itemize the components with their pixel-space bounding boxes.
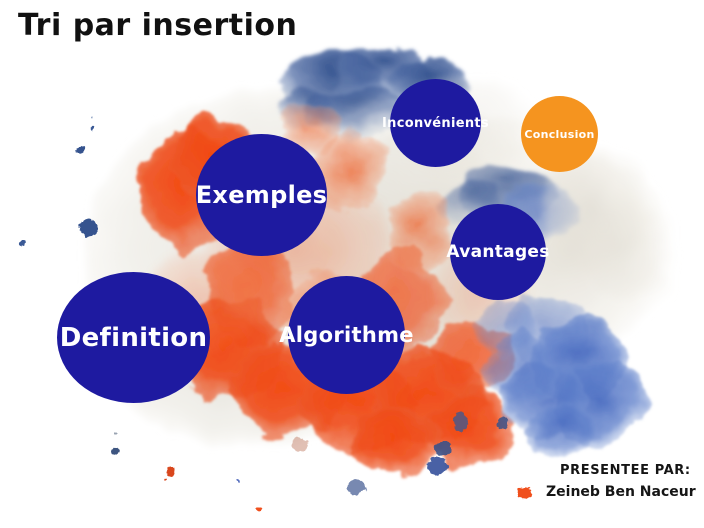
- bubble-avantages-label: Avantages: [446, 244, 549, 261]
- paint-dark-blots: [292, 412, 509, 494]
- page-title: Tri par insertion: [18, 8, 297, 43]
- orange-splat-icon: [516, 484, 534, 502]
- bubble-conclusion-label: Conclusion: [524, 129, 594, 140]
- blue-dot-upper: [89, 125, 95, 130]
- bubble-definition-label: Definition: [60, 325, 208, 351]
- bubble-inconvenients-label: Inconvénients: [382, 117, 489, 130]
- credit-label: PRESENTEE PAR:: [560, 463, 696, 478]
- orange-dot-a: [166, 468, 175, 476]
- paint-cornflower-bottom-right: [475, 292, 650, 458]
- credit-block: PRESENTEE PAR: Zeineb Ben Naceur: [546, 463, 696, 500]
- blue-dot-lower: [111, 447, 119, 454]
- watercolor-background: [0, 0, 704, 528]
- grey-dot-lower: [114, 433, 116, 435]
- orange-dot-c: [258, 507, 263, 512]
- blue-blob-left: [79, 219, 98, 236]
- bubble-exemples-label: Exemples: [196, 183, 328, 207]
- blue-dot-far: [19, 241, 24, 246]
- blue-dot-tiny: [92, 117, 94, 119]
- credit-name: Zeineb Ben Naceur: [546, 484, 696, 500]
- blue-dot-bottom: [236, 480, 239, 483]
- bubble-algorithme-label: Algorithme: [279, 325, 414, 346]
- bubble-inconvenients[interactable]: Inconvénients: [390, 79, 481, 167]
- blue-dot-mid: [76, 147, 85, 155]
- bubble-exemples[interactable]: Exemples: [196, 134, 327, 256]
- presentation-slide: Tri par insertion Definition Exemples Al…: [0, 0, 704, 528]
- bubble-conclusion[interactable]: Conclusion: [521, 96, 598, 172]
- orange-dot-b: [164, 478, 168, 482]
- bubble-avantages[interactable]: Avantages: [450, 204, 546, 300]
- bubble-algorithme[interactable]: Algorithme: [288, 276, 405, 394]
- bubble-definition[interactable]: Definition: [57, 272, 210, 403]
